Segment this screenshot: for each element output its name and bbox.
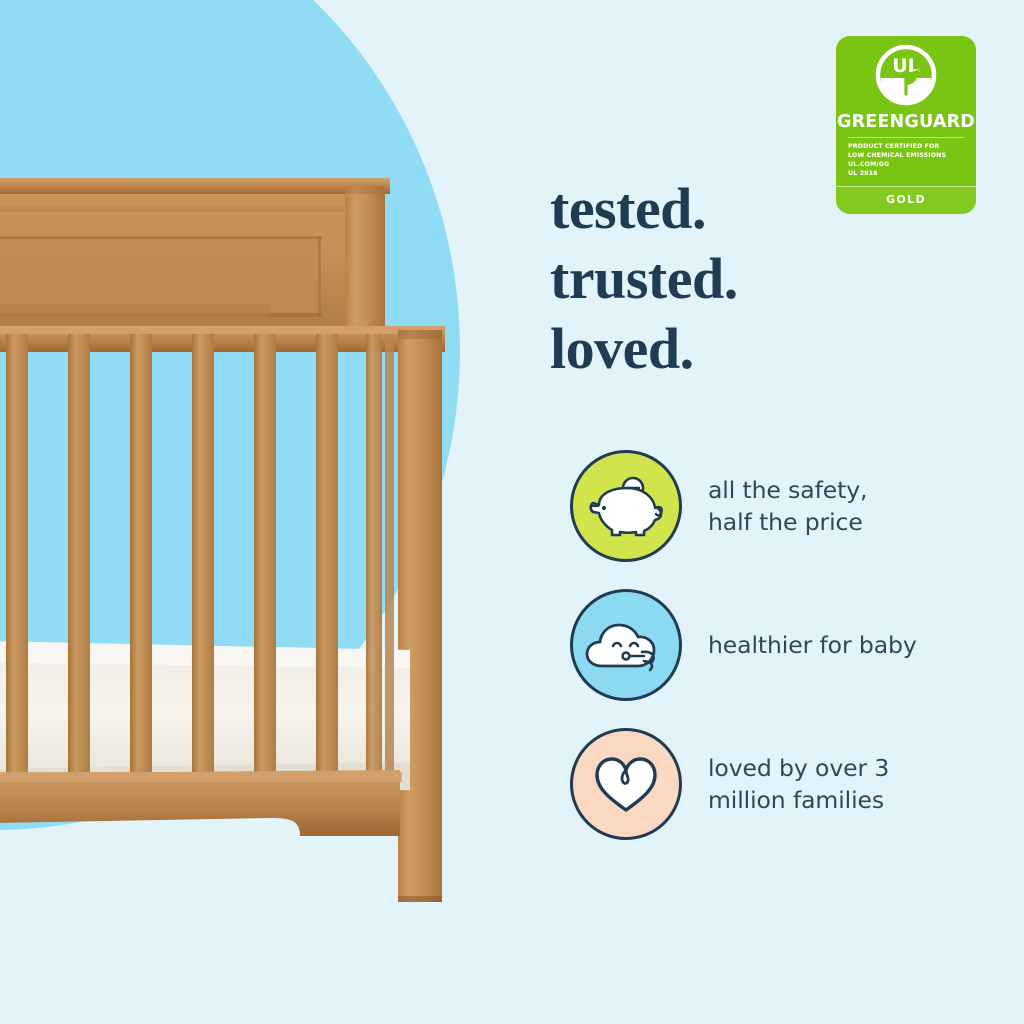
headline-line-2: trusted. — [550, 244, 980, 314]
list-item: all the safety, half the price — [570, 448, 990, 563]
list-item: loved by over 3 million families — [570, 726, 990, 841]
piggy-bank-icon — [570, 450, 682, 562]
badge-fine-line-3: UL.COM/GG — [848, 160, 976, 169]
feature-1-line-2: half the price — [708, 506, 867, 538]
feature-2-line-1: healthier for baby — [708, 629, 917, 661]
list-item: healthier for baby — [570, 587, 990, 702]
badge-fine-line-1: PRODUCT CERTIFIED FOR — [848, 142, 976, 151]
page-title: tested. trusted. loved. — [550, 174, 980, 384]
cloud-breathing-icon — [570, 589, 682, 701]
headline-line-3: loved. — [550, 314, 980, 384]
promo-graphic: UL GREENGUARD PRODUCT CERTIFIED FOR LOW … — [0, 0, 1024, 1024]
feature-1-line-1: all the safety, — [708, 474, 867, 506]
feature-3-line-2: million families — [708, 784, 889, 816]
badge-fine-line-2: LOW CHEMICAL EMISSIONS — [848, 151, 976, 160]
feature-list: all the safety, half the price healthier… — [570, 448, 990, 841]
headline-line-1: tested. — [550, 174, 980, 244]
ul-leaf-logo-icon: UL — [875, 44, 937, 106]
feature-label: healthier for baby — [708, 629, 917, 661]
feature-3-line-1: loved by over 3 — [708, 752, 889, 784]
badge-title: GREENGUARD — [836, 114, 976, 132]
badge-divider — [848, 137, 964, 139]
feature-label: loved by over 3 million families — [708, 752, 889, 816]
heart-icon — [570, 728, 682, 840]
wooden-crib-photo — [0, 0, 470, 1024]
feature-label: all the safety, half the price — [708, 474, 867, 538]
